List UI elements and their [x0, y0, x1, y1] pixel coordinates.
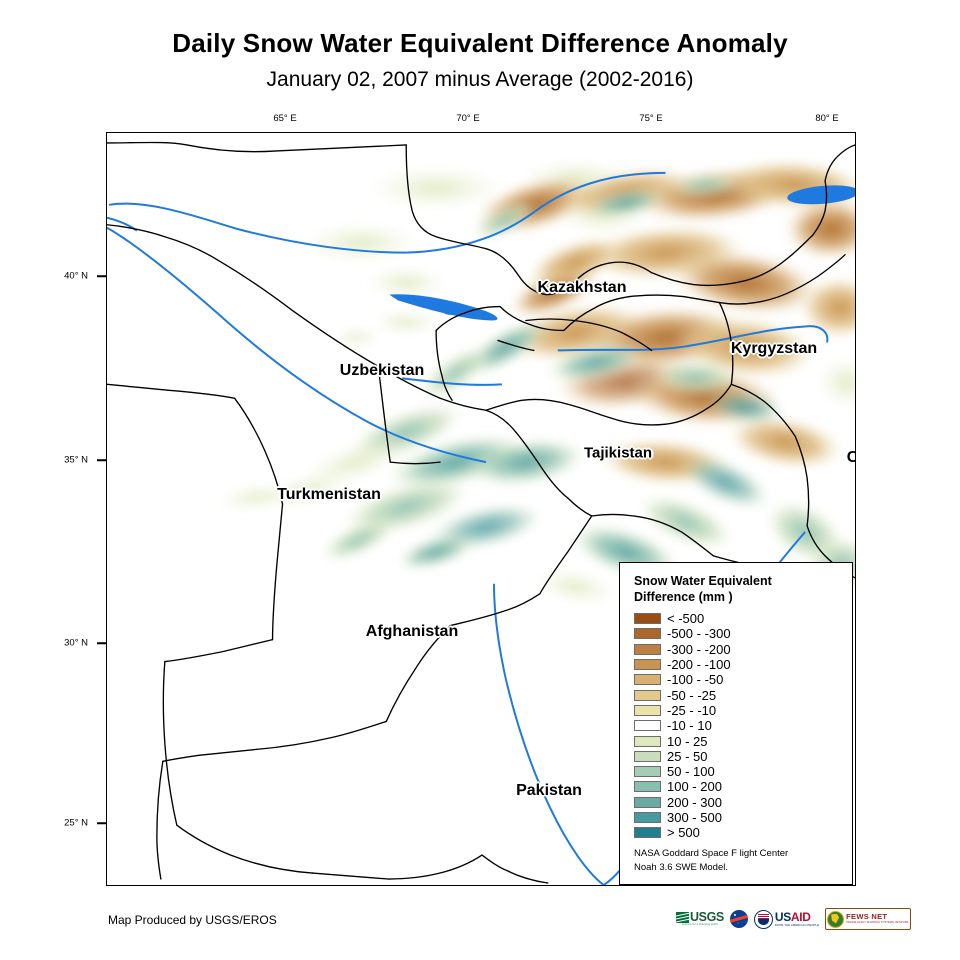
lat-tick-mark	[97, 822, 106, 824]
legend-label: 10 - 25	[667, 735, 707, 748]
lat-tick-label: 30° N	[64, 638, 88, 649]
legend-swatch	[634, 628, 661, 639]
legend-label: 25 - 50	[667, 750, 707, 763]
legend-row: -50 - -25	[634, 687, 852, 702]
page-subtitle: January 02, 2007 minus Average (2002-201…	[0, 68, 960, 92]
usaid-seal-icon	[754, 910, 773, 929]
lon-tick-label: 65° E	[273, 113, 296, 124]
legend-label: 300 - 500	[667, 811, 722, 824]
agency-logo-strip: USGS science for a changing world USAID …	[676, 908, 911, 930]
legend-row: -300 - -200	[634, 642, 852, 657]
legend-row: -500 - -300	[634, 626, 852, 641]
legend-label: 200 - 300	[667, 796, 722, 809]
legend-swatch	[634, 613, 661, 624]
lat-tick-label: 35° N	[64, 455, 88, 466]
legend-swatch	[634, 812, 661, 823]
legend-row: 10 - 25	[634, 733, 852, 748]
legend-row: 200 - 300	[634, 795, 852, 810]
lon-tick-label: 70° E	[456, 113, 479, 124]
legend-row: 100 - 200	[634, 779, 852, 794]
legend-swatch	[634, 674, 661, 685]
legend-label: -300 - -200	[667, 643, 731, 656]
legend-row: -25 - -10	[634, 703, 852, 718]
legend-label: 100 - 200	[667, 780, 722, 793]
lat-tick-mark	[97, 642, 106, 644]
legend-swatch	[634, 659, 661, 670]
fews-tagline: FAMINE EARLY WARNING SYSTEMS NETWORK	[846, 922, 909, 925]
legend-swatch	[634, 766, 661, 777]
legend-class-list: < -500-500 - -300-300 - -200-200 - -100-…	[634, 611, 852, 840]
legend-credit: NASA Goddard Space F light Center Noah 3…	[634, 847, 852, 875]
page-title: Daily Snow Water Equivalent Difference A…	[0, 28, 960, 59]
nasa-meatball-icon	[730, 910, 748, 928]
legend-swatch	[634, 720, 661, 731]
legend-row: 300 - 500	[634, 810, 852, 825]
legend-row: -100 - -50	[634, 672, 852, 687]
legend-row: 25 - 50	[634, 749, 852, 764]
usgs-wave-icon	[676, 912, 689, 923]
fews-wordmark: FEWS NET	[846, 913, 909, 921]
lat-tick-mark	[97, 275, 106, 277]
legend-label: > 500	[667, 826, 700, 839]
legend-label: -25 - -10	[667, 704, 716, 717]
lat-tick-label: 25° N	[64, 818, 88, 829]
legend-title-line1: Snow Water Equivalent	[634, 574, 772, 588]
legend-label: < -500	[667, 612, 704, 625]
legend-swatch	[634, 644, 661, 655]
lat-tick-label: 40° N	[64, 271, 88, 282]
legend-swatch	[634, 705, 661, 716]
usgs-wordmark: USGS	[690, 911, 724, 924]
usgs-logo[interactable]: USGS science for a changing world	[676, 909, 724, 929]
fews-globe-icon	[827, 911, 844, 928]
legend-label: -200 - -100	[667, 658, 731, 671]
legend-row: 50 - 100	[634, 764, 852, 779]
legend-row: < -500	[634, 611, 852, 626]
legend-title: Snow Water Equivalent Difference (mm )	[634, 573, 852, 605]
nasa-logo[interactable]	[730, 909, 748, 929]
legend-swatch	[634, 797, 661, 808]
usaid-logo[interactable]: USAID FROM THE AMERICAN PEOPLE	[754, 909, 819, 929]
legend-label: -10 - 10	[667, 719, 712, 732]
legend-swatch	[634, 751, 661, 762]
legend-title-line2: Difference (mm )	[634, 590, 733, 604]
legend-swatch	[634, 827, 661, 838]
legend-label: -100 - -50	[667, 673, 723, 686]
legend-label: 50 - 100	[667, 765, 715, 778]
legend-panel: Snow Water Equivalent Difference (mm ) <…	[619, 562, 853, 885]
legend-label: -500 - -300	[667, 627, 731, 640]
legend-swatch	[634, 736, 661, 747]
legend-row: -10 - 10	[634, 718, 852, 733]
lon-tick-label: 80° E	[815, 113, 838, 124]
legend-swatch	[634, 690, 661, 701]
map-page: Daily Snow Water Equivalent Difference A…	[0, 0, 960, 960]
usaid-tagline: FROM THE AMERICAN PEOPLE	[775, 924, 819, 927]
legend-label: -50 - -25	[667, 689, 716, 702]
legend-row: > 500	[634, 825, 852, 840]
usgs-tagline: science for a changing world	[682, 924, 718, 927]
legend-row: -200 - -100	[634, 657, 852, 672]
lon-tick-label: 75° E	[639, 113, 662, 124]
fews-net-logo[interactable]: FEWS NET FAMINE EARLY WARNING SYSTEMS NE…	[825, 908, 911, 930]
lat-tick-mark	[97, 459, 106, 461]
legend-swatch	[634, 781, 661, 792]
producer-credit: Map Produced by USGS/EROS	[108, 913, 277, 927]
